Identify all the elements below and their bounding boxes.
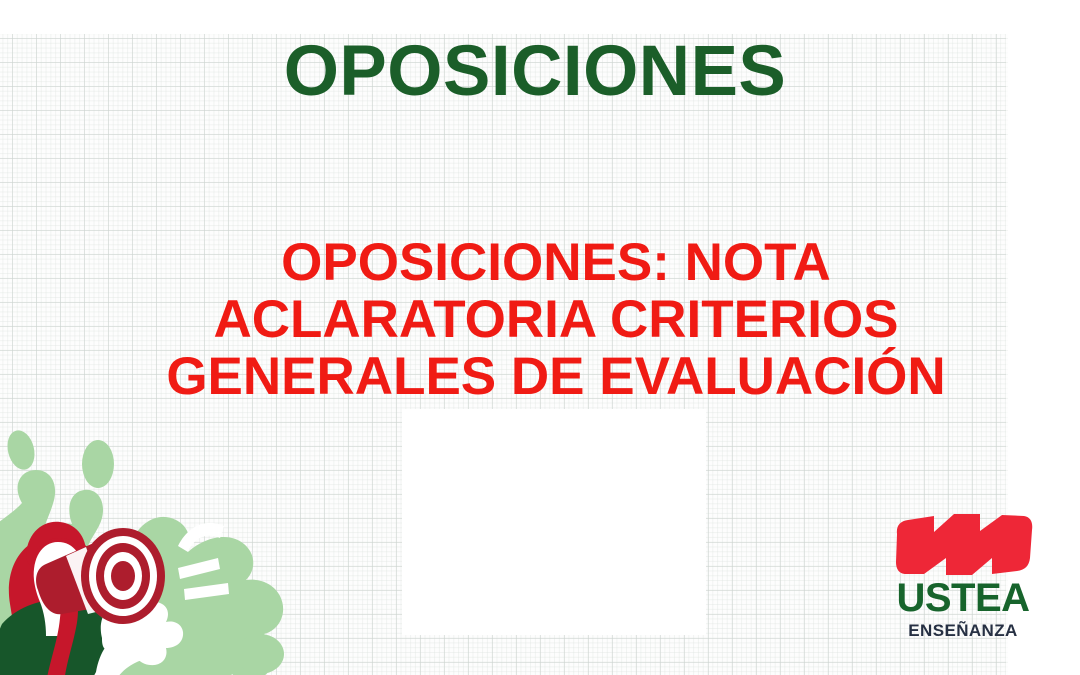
headline-block: OPOSICIONES: NOTA ACLARATORIA CRITERIOS … <box>0 234 1080 406</box>
white-content-panel <box>402 409 706 635</box>
headline-line-3: GENERALES DE EVALUACIÓN <box>0 348 1080 405</box>
ustea-wordmark: USTEA <box>888 578 1038 618</box>
poster-canvas: OPOSICIONES OPOSICIONES: NOTA ACLARATORI… <box>0 0 1080 675</box>
splatter-drop-2 <box>4 427 39 472</box>
splatter-drop-3 <box>188 606 232 638</box>
woman-with-megaphone-illustration <box>0 408 292 675</box>
headline-line-1: OPOSICIONES: NOTA <box>0 234 1080 291</box>
background-top-fade <box>0 0 1080 34</box>
splatter-drop-4 <box>236 634 284 674</box>
ustea-flag-icon <box>894 512 1034 578</box>
ustea-logo: USTEA ENSEÑANZA <box>888 512 1048 654</box>
ustea-subtitle: ENSEÑANZA <box>888 622 1038 639</box>
headline-line-2: ACLARATORIA CRITERIOS <box>0 291 1080 348</box>
splatter-drop-1 <box>82 440 114 488</box>
page-title: OPOSICIONES <box>0 36 1070 107</box>
